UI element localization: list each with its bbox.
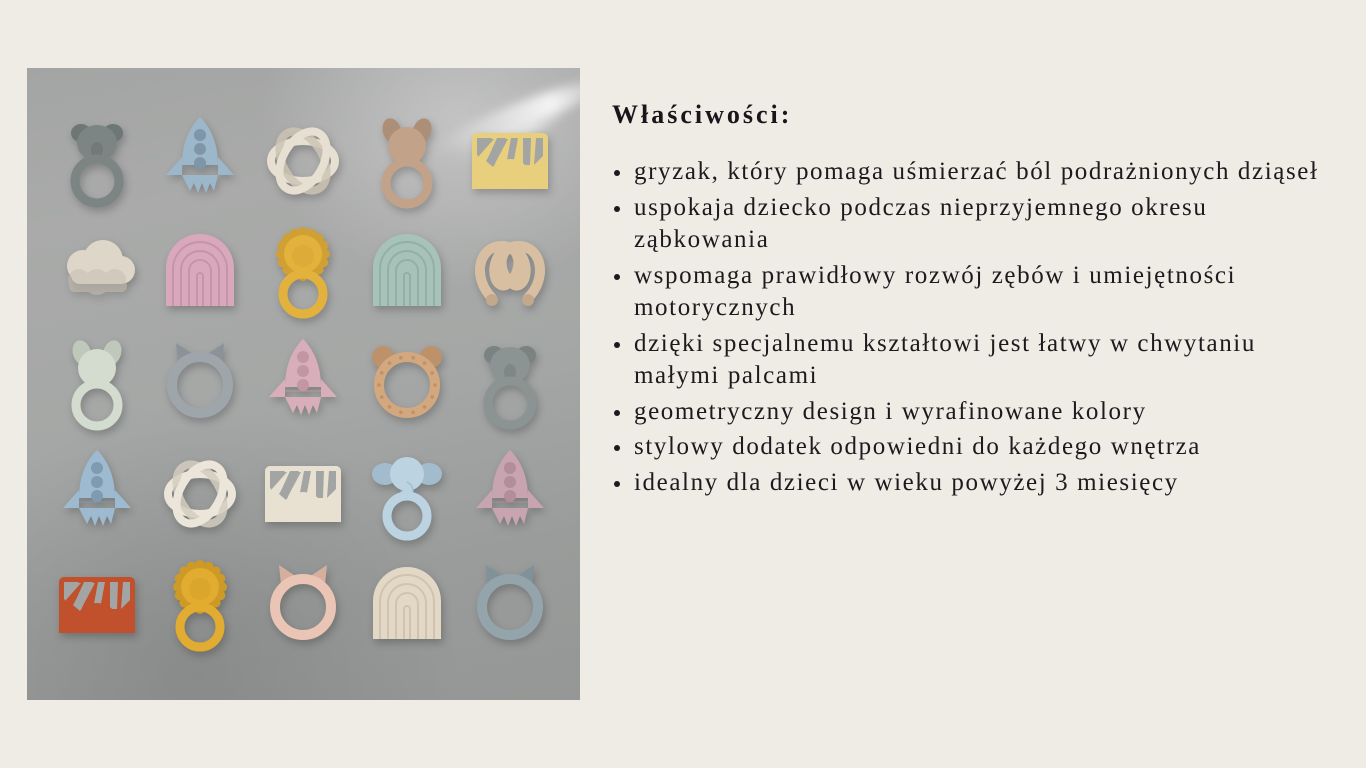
teether-rainbow	[158, 224, 242, 320]
teether-cell	[148, 106, 251, 217]
teether-sunburst	[55, 557, 139, 653]
teether-rocket	[468, 446, 552, 542]
teether-cell	[459, 106, 562, 217]
teether-cell	[355, 438, 458, 549]
feature-item: stylowy dodatek odpowiedni do każdego wn…	[600, 431, 1320, 464]
page-title: Właściwości:	[612, 100, 1320, 130]
teether-sunburst	[468, 113, 552, 209]
teether-cell	[355, 106, 458, 217]
teether-cell	[252, 106, 355, 217]
teether-interlocking-rings	[158, 446, 242, 542]
bullet-icon	[614, 445, 620, 451]
teether-cell	[459, 549, 562, 660]
teether-cloud	[55, 224, 139, 320]
feature-text: geometryczny design i wyrafinowane kolor…	[634, 396, 1147, 429]
teether-cat-ring	[261, 557, 345, 653]
teether-cell	[252, 328, 355, 439]
bullet-icon	[614, 342, 620, 348]
teether-rainbow	[365, 224, 449, 320]
bullet-icon	[614, 410, 620, 416]
teether-cell	[45, 549, 148, 660]
feature-item: uspokaja dziecko podczas nieprzyjemnego …	[600, 192, 1320, 257]
feature-text: dzięki specjalnemu kształtowi jest łatwy…	[634, 328, 1320, 393]
feature-item: gryzak, który pomaga uśmierzać ból podra…	[600, 156, 1320, 189]
teether-cell	[355, 549, 458, 660]
teether-interlocking-rings	[261, 113, 345, 209]
bullet-icon	[614, 481, 620, 487]
teether-cell	[252, 549, 355, 660]
teether-cell	[355, 217, 458, 328]
teether-koala-ring	[55, 113, 139, 209]
teether-cell	[45, 328, 148, 439]
feature-text: uspokaja dziecko podczas nieprzyjemnego …	[634, 192, 1320, 257]
features-list: gryzak, który pomaga uśmierzać ból podra…	[600, 156, 1320, 499]
teether-grid	[27, 68, 580, 700]
teether-cell	[45, 438, 148, 549]
teether-cell	[459, 217, 562, 328]
teether-cat-ring	[468, 557, 552, 653]
teether-rocket	[55, 446, 139, 542]
teether-cell	[148, 438, 251, 549]
teether-koala-ring	[468, 335, 552, 431]
feature-text: idealny dla dzieci w wieku powyżej 3 mie…	[634, 467, 1179, 500]
teether-cell	[45, 217, 148, 328]
teether-cell	[355, 328, 458, 439]
feature-item: geometryczny design i wyrafinowane kolor…	[600, 396, 1320, 429]
bullet-icon	[614, 274, 620, 280]
teether-bear-ring	[365, 335, 449, 431]
feature-text: stylowy dodatek odpowiedni do każdego wn…	[634, 431, 1201, 464]
feature-item: idealny dla dzieci w wieku powyżej 3 mie…	[600, 467, 1320, 500]
teether-sunburst	[261, 446, 345, 542]
teether-cell	[148, 217, 251, 328]
teether-cell	[148, 328, 251, 439]
teether-cell	[459, 438, 562, 549]
bullet-icon	[614, 206, 620, 212]
features-panel: Właściwości: gryzak, który pomaga uśmier…	[600, 100, 1320, 502]
feature-text: gryzak, który pomaga uśmierzać ból podra…	[634, 156, 1319, 189]
teether-cell	[252, 217, 355, 328]
teether-cell	[148, 549, 251, 660]
teether-cell	[459, 328, 562, 439]
teether-rainbow	[365, 557, 449, 653]
teether-cat-ring	[158, 335, 242, 431]
slide: Właściwości: gryzak, który pomaga uśmier…	[0, 0, 1366, 768]
teether-lion-ring	[261, 224, 345, 320]
teether-bunny-ring	[365, 113, 449, 209]
teether-bunny-ring	[55, 335, 139, 431]
teether-cell	[252, 438, 355, 549]
teether-rocket	[158, 113, 242, 209]
feature-text: wspomaga prawidłowy rozwój zębów i umiej…	[634, 260, 1320, 325]
feature-item: wspomaga prawidłowy rozwój zębów i umiej…	[600, 260, 1320, 325]
teether-pretzel	[468, 224, 552, 320]
teether-rocket	[261, 335, 345, 431]
product-photo	[27, 68, 580, 700]
bullet-icon	[614, 170, 620, 176]
teether-cell	[45, 106, 148, 217]
teether-lion-ring	[158, 557, 242, 653]
teether-elephant-ring	[365, 446, 449, 542]
feature-item: dzięki specjalnemu kształtowi jest łatwy…	[600, 328, 1320, 393]
